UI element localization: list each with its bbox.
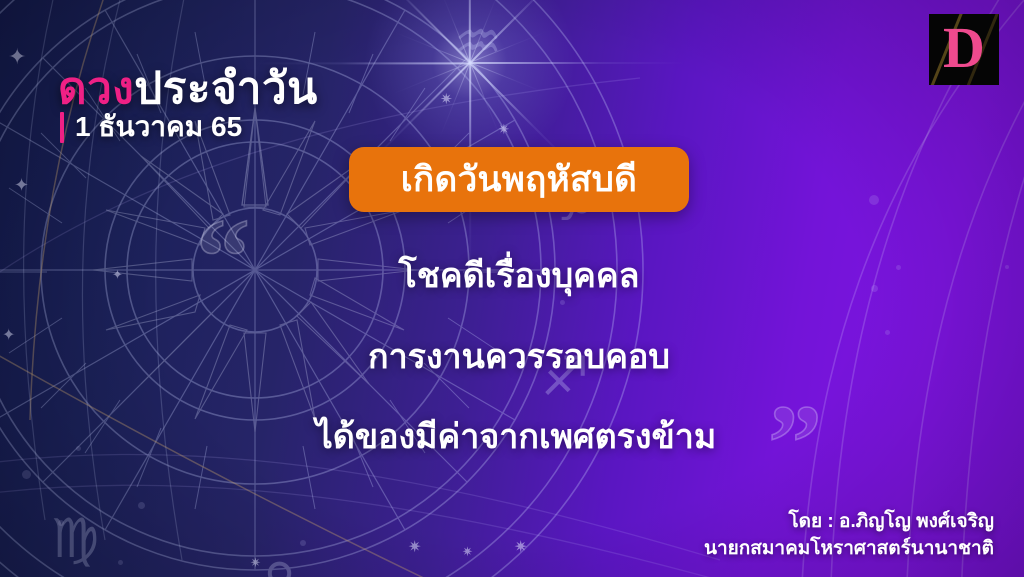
credits: โดย : อ.ภิญโญ พงศ์เจริญ นายกสมาคมโหราศาส… <box>704 508 994 563</box>
credit-title: นายกสมาคมโหราศาสตร์นานาชาติ <box>704 535 994 563</box>
date-label: 1 ธันวาคม 65 <box>75 105 242 149</box>
credit-author: โดย : อ.ภิญโญ พงศ์เจริญ <box>704 508 994 536</box>
day-banner: เกิดวันพฤหัสบดี <box>349 147 689 212</box>
logo-letter: D <box>943 19 985 77</box>
prediction-list: โชคดีเรื่องบุคคล การงานควรรอบคอบ ได้ของม… <box>0 248 1024 463</box>
prediction-line-2: การงานควรรอบคอบ <box>354 329 670 383</box>
prediction-line-1: โชคดีเรื่องบุคคล <box>385 248 640 302</box>
prediction-line-3: ได้ของมีค่าจากเพศตรงข้าม <box>308 409 717 463</box>
day-banner-label: เกิดวันพฤหัสบดี <box>401 152 637 207</box>
horoscope-card: ♓ ♒ ♑ ♐ ♈ ♉ ♋ ♌ ♍ ♎ <box>0 0 1024 577</box>
date-accent-bar <box>60 112 64 143</box>
date-row: 1 ธันวาคม 65 <box>60 105 242 149</box>
brand-logo: D <box>929 14 999 85</box>
